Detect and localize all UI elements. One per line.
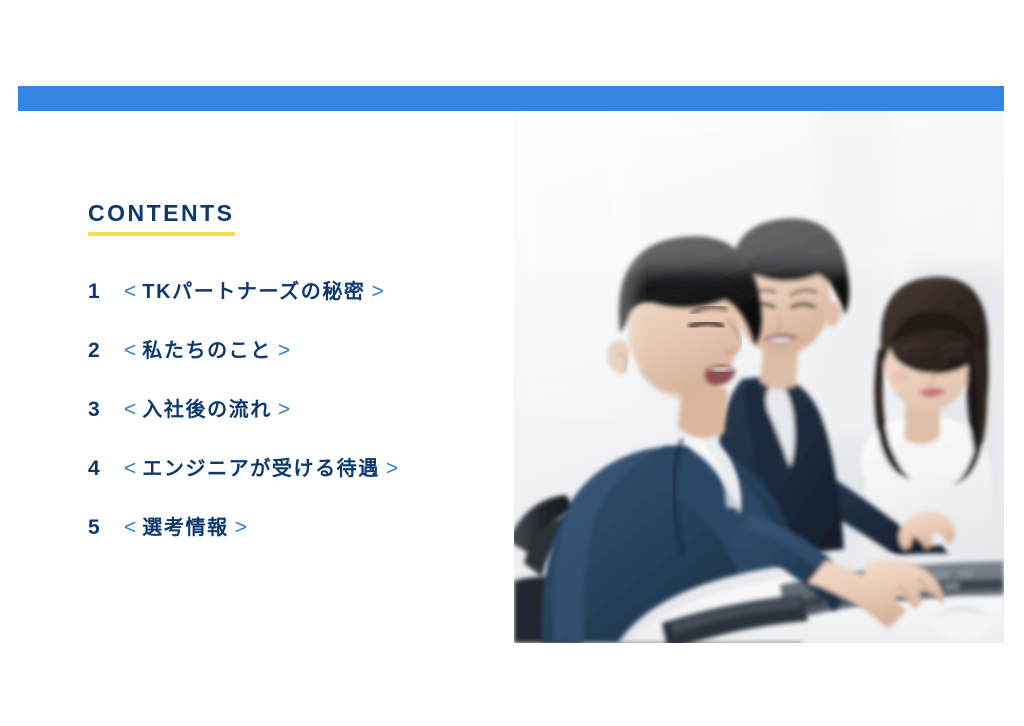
toc-label: TKパートナーズの秘密	[142, 275, 365, 304]
angle-bracket-close-icon: >	[366, 280, 390, 304]
angle-bracket-close-icon: >	[272, 398, 296, 422]
photo-illustration	[514, 111, 1004, 643]
angle-bracket-open-icon: <	[118, 457, 142, 481]
contents-panel: CONTENTS 1 < TKパートナーズの秘密 > 2 < 私たちのこと > …	[88, 202, 488, 570]
toc-number: 2	[88, 339, 118, 363]
toc-number: 4	[88, 457, 118, 481]
toc-number: 5	[88, 516, 118, 540]
list-item[interactable]: 3 < 入社後の流れ >	[88, 393, 488, 452]
angle-bracket-close-icon: >	[380, 457, 404, 481]
angle-bracket-close-icon: >	[229, 516, 253, 540]
angle-bracket-open-icon: <	[118, 398, 142, 422]
list-item[interactable]: 1 < TKパートナーズの秘密 >	[88, 275, 488, 334]
list-item[interactable]: 4 < エンジニアが受ける待遇 >	[88, 452, 488, 511]
angle-bracket-open-icon: <	[118, 280, 142, 304]
slide-canvas: CONTENTS 1 < TKパートナーズの秘密 > 2 < 私たちのこと > …	[0, 0, 1024, 726]
accent-bar	[18, 86, 1004, 111]
toc-label: 選考情報	[142, 511, 228, 540]
angle-bracket-close-icon: >	[272, 339, 296, 363]
office-team-photo	[514, 111, 1004, 643]
toc-number: 1	[88, 280, 118, 304]
list-item[interactable]: 2 < 私たちのこと >	[88, 334, 488, 393]
toc-label: エンジニアが受ける待遇	[142, 452, 380, 481]
angle-bracket-open-icon: <	[118, 339, 142, 363]
list-item[interactable]: 5 < 選考情報 >	[88, 511, 488, 570]
page-title: CONTENTS	[88, 202, 235, 236]
toc-number: 3	[88, 398, 118, 422]
table-of-contents: 1 < TKパートナーズの秘密 > 2 < 私たちのこと > 3 < 入社後の流…	[88, 275, 488, 570]
toc-label: 入社後の流れ	[142, 393, 272, 422]
angle-bracket-open-icon: <	[118, 516, 142, 540]
toc-label: 私たちのこと	[142, 334, 272, 363]
